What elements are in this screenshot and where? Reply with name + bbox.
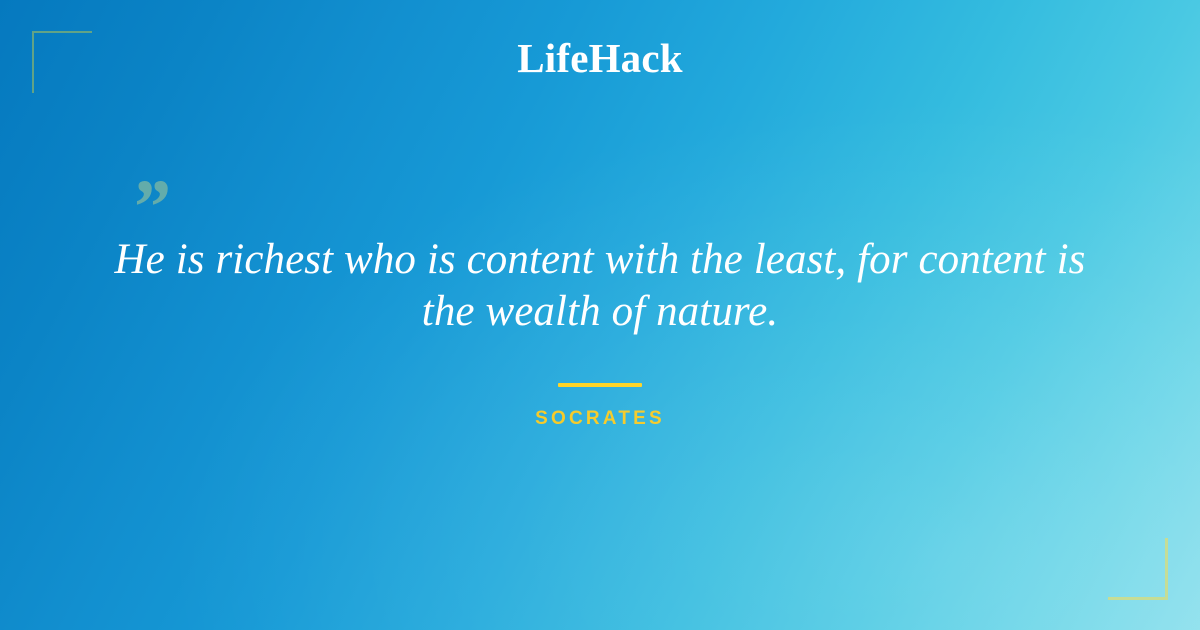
quote-block: ” He is richest who is content with the … xyxy=(0,160,1200,430)
corner-bracket-bottom-right xyxy=(1108,538,1168,600)
quote-card: LifeHack ” He is richest who is content … xyxy=(0,0,1200,630)
quote-author: SOCRATES xyxy=(0,408,1200,430)
quotation-mark-icon: ” xyxy=(130,168,167,246)
quote-text: He is richest who is content with the le… xyxy=(95,234,1105,339)
divider-rule xyxy=(558,383,642,387)
lifehack-logo: LifeHack xyxy=(0,38,1200,79)
